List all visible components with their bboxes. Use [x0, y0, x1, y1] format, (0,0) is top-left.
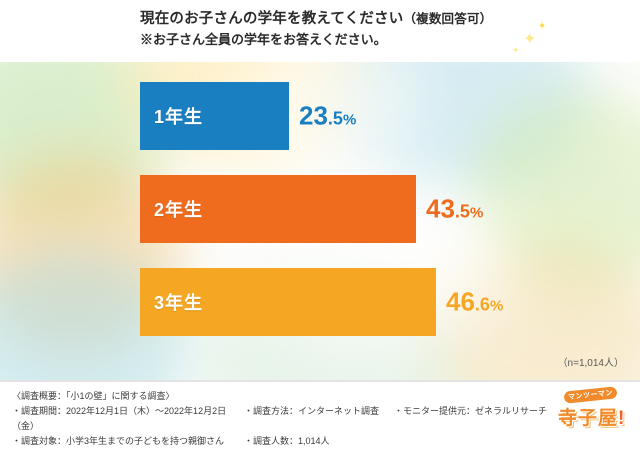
header: 現在のお子さんの学年を教えてください（複数回答可） ※お子さん全員の学年をお答え… — [0, 0, 640, 62]
sparkle-icon: ✦ — [523, 32, 536, 48]
bar-value-label: 46.6% — [446, 287, 503, 318]
footer: 〈調査概要：「小1の壁」に関する調査〉 ・調査期間：2022年12月1日（木）～… — [0, 380, 640, 444]
bar-row: 3年生46.6% — [140, 268, 556, 336]
survey-line — [394, 434, 594, 449]
survey-line: 〈調査概要：「小1の壁」に関する調査〉 — [12, 389, 244, 404]
brand-logo: マンツーマン 寺子屋! — [558, 389, 632, 435]
bar-segment: 3年生 — [140, 268, 436, 336]
bar-segment: 1年生 — [140, 82, 289, 150]
page-title: 現在のお子さんの学年を教えてください（複数回答可） — [140, 8, 492, 30]
header-text-block: 現在のお子さんの学年を教えてください（複数回答可） ※お子さん全員の学年をお答え… — [140, 8, 492, 50]
survey-line: ・調査対象：小学3年生までの子どもを持つ親御さん — [12, 434, 244, 449]
bar-segment: 2年生 — [140, 175, 416, 243]
chart-area: 1年生23.5%2年生43.5%3年生46.6% （n=1,014人） — [0, 62, 640, 380]
bar-value-label: 43.5% — [426, 194, 483, 225]
survey-line: ・調査期間：2022年12月1日（木）～2022年12月2日（金） — [12, 404, 244, 434]
page-title-paren: （複数回答可） — [403, 12, 492, 26]
survey-line: ・調査方法：インターネット調査 — [244, 404, 394, 434]
survey-line — [244, 389, 394, 404]
bar-category-label: 2年生 — [154, 196, 203, 222]
page-subtitle: ※お子さん全員の学年をお答えください。 — [140, 30, 492, 50]
survey-line: ・調査人数：1,014人 — [244, 434, 394, 449]
sample-size-note: （n=1,014人） — [558, 354, 624, 369]
sparkle-icon: ✦ — [538, 22, 546, 32]
page-title-main: 現在のお子さんの学年を教えてください — [140, 11, 403, 27]
bar-row: 2年生43.5% — [140, 175, 536, 243]
bar-chart: 1年生23.5%2年生43.5%3年生46.6% — [0, 62, 640, 380]
bar-category-label: 3年生 — [154, 289, 203, 315]
survey-overview: 〈調査概要：「小1の壁」に関する調査〉 ・調査期間：2022年12月1日（木）～… — [12, 389, 594, 449]
bar-value-label: 23.5% — [299, 101, 356, 132]
sparkle-icon: ✦ — [512, 46, 520, 55]
logo-name: 寺子屋 — [558, 408, 618, 429]
bar-category-label: 1年生 — [154, 103, 203, 129]
bar-row: 1年生23.5% — [140, 82, 409, 150]
logo-badge-label: マンツーマン — [564, 386, 618, 403]
infographic-page: 現在のお子さんの学年を教えてください（複数回答可） ※お子さん全員の学年をお答え… — [0, 0, 640, 443]
logo-text: 寺子屋! — [558, 403, 625, 430]
logo-mark: ! — [618, 408, 625, 429]
